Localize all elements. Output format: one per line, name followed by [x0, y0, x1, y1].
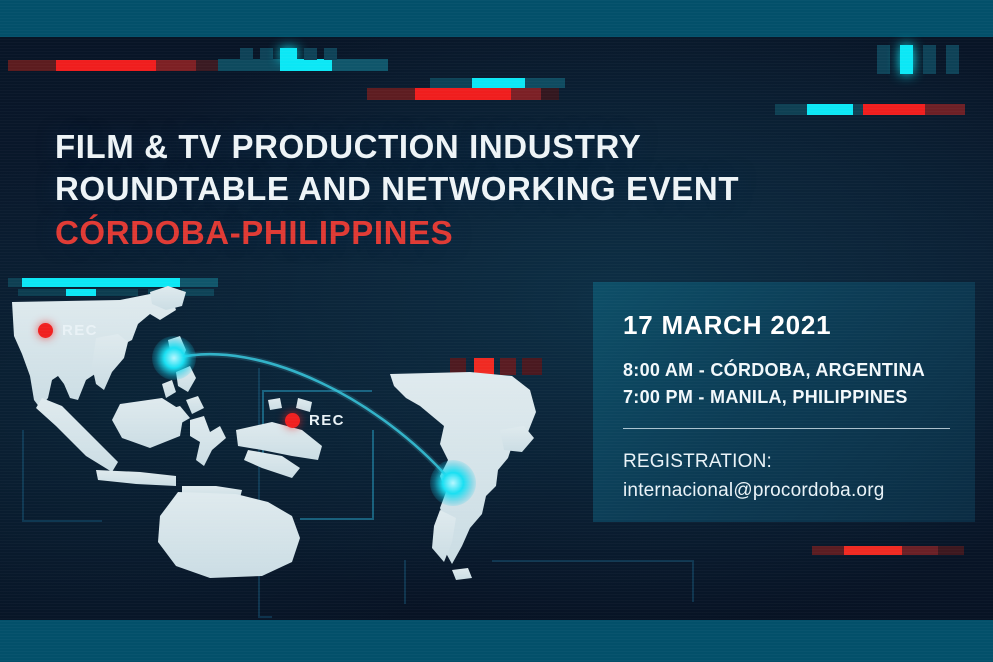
- marker-glow-philippines: [152, 336, 196, 380]
- bottom-teal-band: [0, 620, 993, 662]
- page-title-line3: CÓRDOBA-PHILIPPINES: [55, 212, 453, 254]
- marker-glow-argentina: [430, 460, 476, 506]
- rec-label-asia: REC: [62, 322, 98, 339]
- glitch-bar-topright: [775, 104, 965, 115]
- top-teal-band: [0, 0, 993, 37]
- rec-marker-pacific: REC: [285, 412, 345, 429]
- glitch-bar-bottom-right: [812, 546, 964, 555]
- rec-marker-asia: REC: [38, 322, 98, 339]
- glitch-vbars-left: [240, 48, 337, 60]
- event-poster: FILM & TV PRODUCTION INDUSTRY ROUNDTABLE…: [0, 0, 993, 662]
- registration-block: REGISTRATION: internacional@procordoba.o…: [623, 447, 885, 505]
- hud-bracket-lower-left: [404, 560, 534, 604]
- event-times: 8:00 AM - CÓRDOBA, ARGENTINA 7:00 PM - M…: [623, 357, 925, 411]
- time-manila: 7:00 PM - MANILA, PHILIPPINES: [623, 384, 925, 411]
- glitch-bar-red-left: [8, 60, 233, 71]
- glitch-bar-red-center: [367, 88, 559, 100]
- registration-label: REGISTRATION:: [623, 447, 885, 476]
- glitch-vbars-topright: [877, 45, 959, 74]
- rec-dot-icon: [38, 323, 53, 338]
- glitch-bar-cyan-left: [218, 59, 388, 71]
- rec-label-pacific: REC: [309, 412, 345, 429]
- rec-dot-icon: [285, 413, 300, 428]
- event-date: 17 MARCH 2021: [623, 310, 831, 341]
- glitch-bar-cyan-center: [430, 78, 565, 88]
- registration-email[interactable]: internacional@procordoba.org: [623, 476, 885, 505]
- page-title-line1: FILM & TV PRODUCTION INDUSTRY: [55, 126, 641, 168]
- page-title-line2: ROUNDTABLE AND NETWORKING EVENT: [55, 168, 739, 210]
- panel-divider: [623, 428, 950, 429]
- time-cordoba: 8:00 AM - CÓRDOBA, ARGENTINA: [623, 357, 925, 384]
- event-info-panel: 17 MARCH 2021 8:00 AM - CÓRDOBA, ARGENTI…: [593, 282, 975, 522]
